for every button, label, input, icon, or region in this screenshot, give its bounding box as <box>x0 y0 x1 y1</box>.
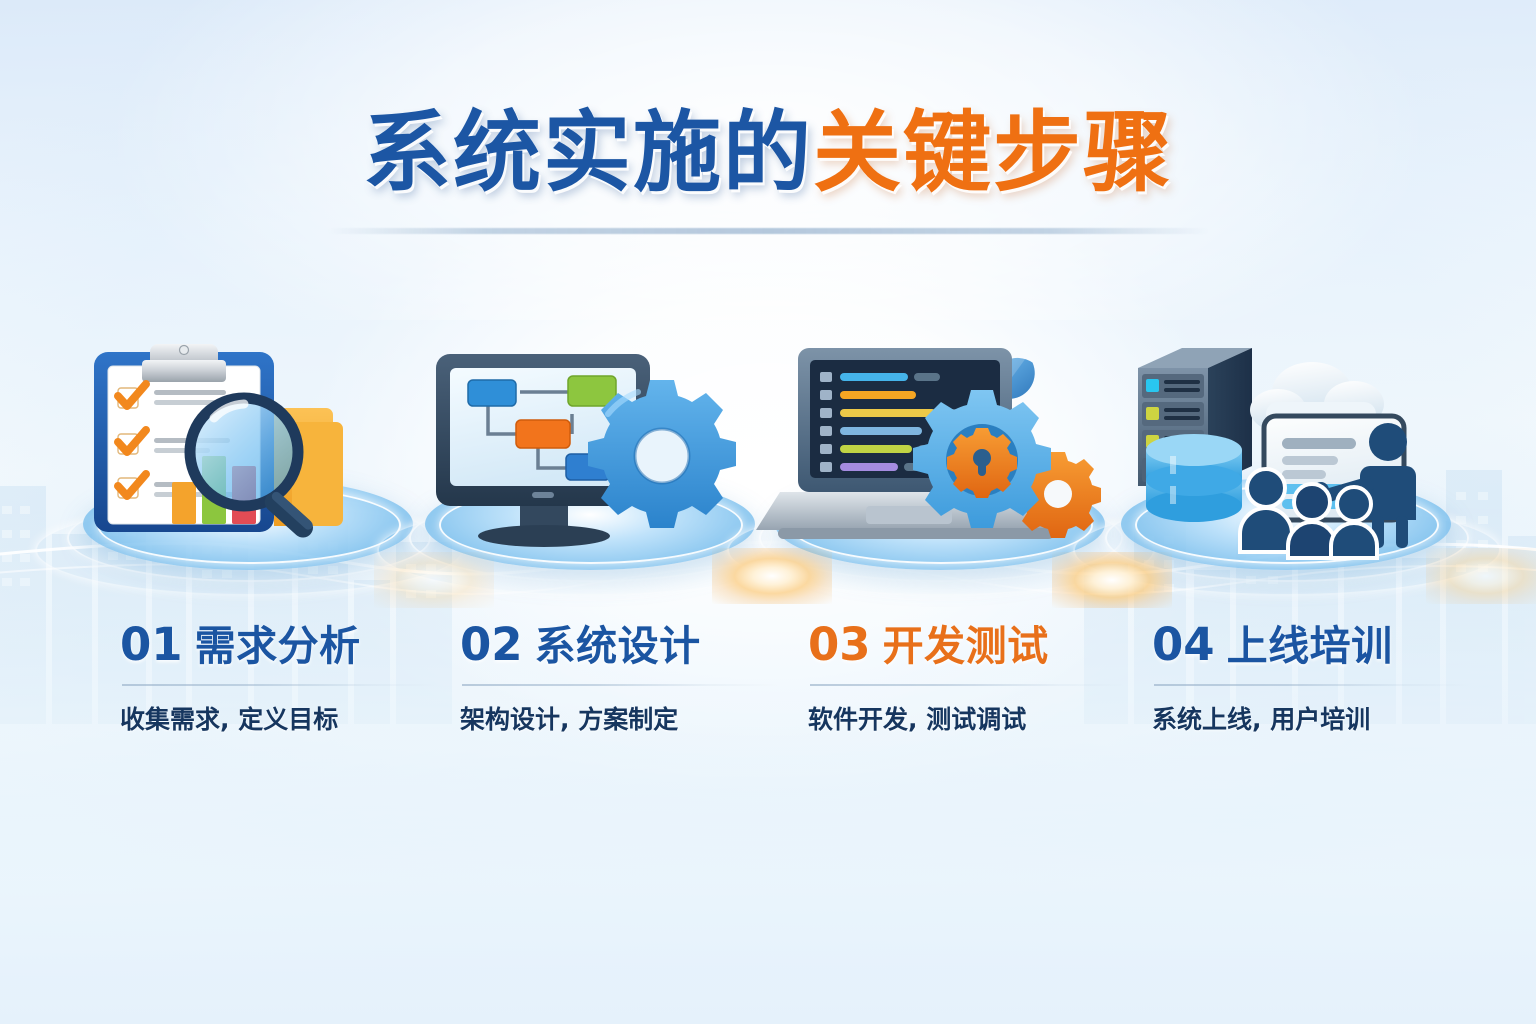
page-title: 系统实施的关键步骤 <box>0 108 1536 198</box>
title-underline-divider <box>328 228 1208 234</box>
step-heading-4: 04上线培训 <box>1152 612 1492 672</box>
page-title-accent: 关键步骤 <box>813 101 1173 204</box>
step-title-2: 系统设计 <box>535 622 701 670</box>
step-block-1[interactable]: 01需求分析 收集需求, 定义目标 <box>120 612 460 736</box>
blue-gear-large <box>913 390 1051 528</box>
step-number-3: 03 <box>808 618 871 671</box>
blue-gear-shape <box>588 380 736 528</box>
step-title-3: 开发测试 <box>883 622 1049 670</box>
step-divider-4 <box>1154 684 1470 686</box>
step-subtitle-2: 架构设计, 方案制定 <box>460 700 800 736</box>
step-icon-2-system-design <box>420 330 760 560</box>
step-icon-4-golive-training <box>1116 330 1456 560</box>
step-divider-2 <box>462 684 778 686</box>
step-icon-1-requirements-analysis <box>78 330 418 560</box>
step-divider-1 <box>122 684 438 686</box>
infographic-canvas: 系统实施的关键步骤 <box>0 0 1536 1024</box>
step-icon-3-development-testing <box>770 330 1110 560</box>
server-cloud-training-icon <box>1116 330 1456 560</box>
step-subtitle-1: 收集需求, 定义目标 <box>120 700 460 736</box>
clipboard-checklist-magnifier-icon <box>78 330 418 560</box>
step-subtitle-4: 系统上线, 用户培训 <box>1152 700 1492 736</box>
step-title-4: 上线培训 <box>1227 622 1393 670</box>
step-title-1: 需求分析 <box>195 622 361 670</box>
step-heading-3: 03开发测试 <box>808 612 1148 672</box>
step-divider-3 <box>810 684 1126 686</box>
desktop-flowchart-gear-icon <box>420 330 760 560</box>
step-block-3[interactable]: 03开发测试 软件开发, 测试调试 <box>808 612 1148 736</box>
step-heading-1: 01需求分析 <box>120 612 460 672</box>
step-heading-2: 02系统设计 <box>460 612 800 672</box>
step-number-1: 01 <box>120 618 183 671</box>
page-title-primary: 系统实施的 <box>363 101 813 204</box>
step-subtitle-3: 软件开发, 测试调试 <box>808 700 1148 736</box>
database-cylinder-shape <box>1146 434 1242 522</box>
step-block-2[interactable]: 02系统设计 架构设计, 方案制定 <box>460 612 800 736</box>
step-number-4: 04 <box>1152 618 1215 671</box>
laptop-code-gears-wrench-icon <box>770 330 1110 560</box>
step-number-2: 02 <box>460 618 523 671</box>
page-title-block: 系统实施的关键步骤 <box>0 108 1536 198</box>
steps-text-band: 01需求分析 收集需求, 定义目标 02系统设计 架构设计, 方案制定 03开发… <box>0 612 1536 772</box>
step-block-4[interactable]: 04上线培训 系统上线, 用户培训 <box>1152 612 1492 736</box>
